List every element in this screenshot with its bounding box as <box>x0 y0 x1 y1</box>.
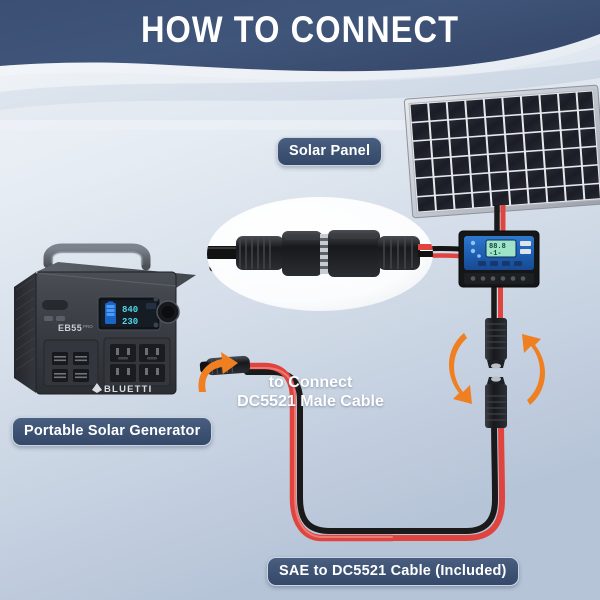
annotation-line-1: to Connect <box>208 373 413 392</box>
label-portable-solar-generator: Portable Solar Generator <box>12 417 212 446</box>
connect-annotation: to Connect DC5521 Male Cable <box>208 373 413 411</box>
annotation-line-2: DC5521 Male Cable <box>208 392 413 411</box>
label-solar-panel: Solar Panel <box>277 137 382 166</box>
infographic-canvas: HOW TO CONNECT <box>0 0 600 600</box>
dc5521-male-connector <box>0 0 600 600</box>
label-sae-cable: SAE to DC5521 Cable (Included) <box>267 557 519 586</box>
